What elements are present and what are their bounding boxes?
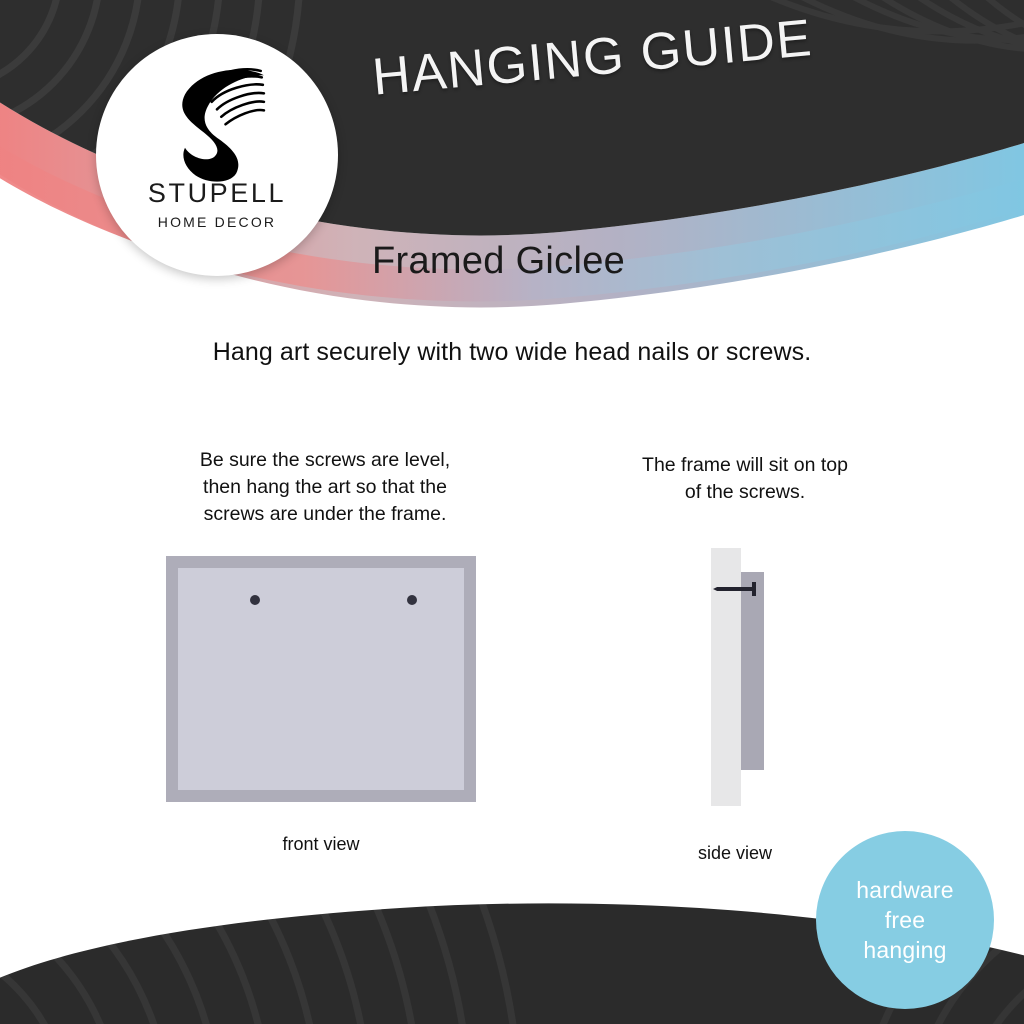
page-title: HANGING GUIDE [370, 1, 893, 108]
badge-line-1: hardware [856, 875, 954, 905]
brand-logo-badge: STUPELL HOME DECOR [96, 34, 338, 276]
side-view-illustration [706, 545, 786, 810]
side-view-caption-line-2: of the screws. [600, 479, 890, 506]
picture-frame-side-icon [741, 572, 764, 770]
wall-strip-icon [711, 548, 741, 806]
screw-mark-left-icon [250, 595, 260, 605]
hardware-free-hanging-badge: hardware free hanging [816, 831, 994, 1009]
screw-mark-right-icon [407, 595, 417, 605]
side-view-label: side view [650, 843, 820, 864]
badge-line-3: hanging [863, 935, 946, 965]
front-view-caption: Be sure the screws are level, then hang … [170, 447, 480, 528]
stupell-s-swoosh-logo-icon [153, 56, 281, 184]
picture-frame-front-icon [166, 556, 476, 802]
side-view-caption: The frame will sit on top of the screws. [600, 452, 890, 506]
main-instruction-text: Hang art securely with two wide head nai… [0, 338, 1024, 367]
frame-artwork-panel [178, 568, 464, 790]
front-view-label: front view [166, 834, 476, 855]
front-view-caption-line-2: then hang the art so that the [170, 474, 480, 501]
front-view-caption-line-1: Be sure the screws are level, [170, 447, 480, 474]
brand-subwordmark: HOME DECOR [158, 214, 276, 230]
side-view-caption-line-1: The frame will sit on top [600, 452, 890, 479]
nail-icon [713, 587, 754, 591]
front-view-caption-line-3: screws are under the frame. [170, 501, 480, 528]
product-type-label: Framed Giclee [372, 240, 625, 283]
nail-head-icon [752, 582, 756, 596]
brand-wordmark: STUPELL [148, 180, 286, 207]
badge-line-2: free [885, 905, 925, 935]
hanging-guide-page: STUPELL HOME DECOR HANGING GUIDE Framed … [0, 0, 1024, 1024]
